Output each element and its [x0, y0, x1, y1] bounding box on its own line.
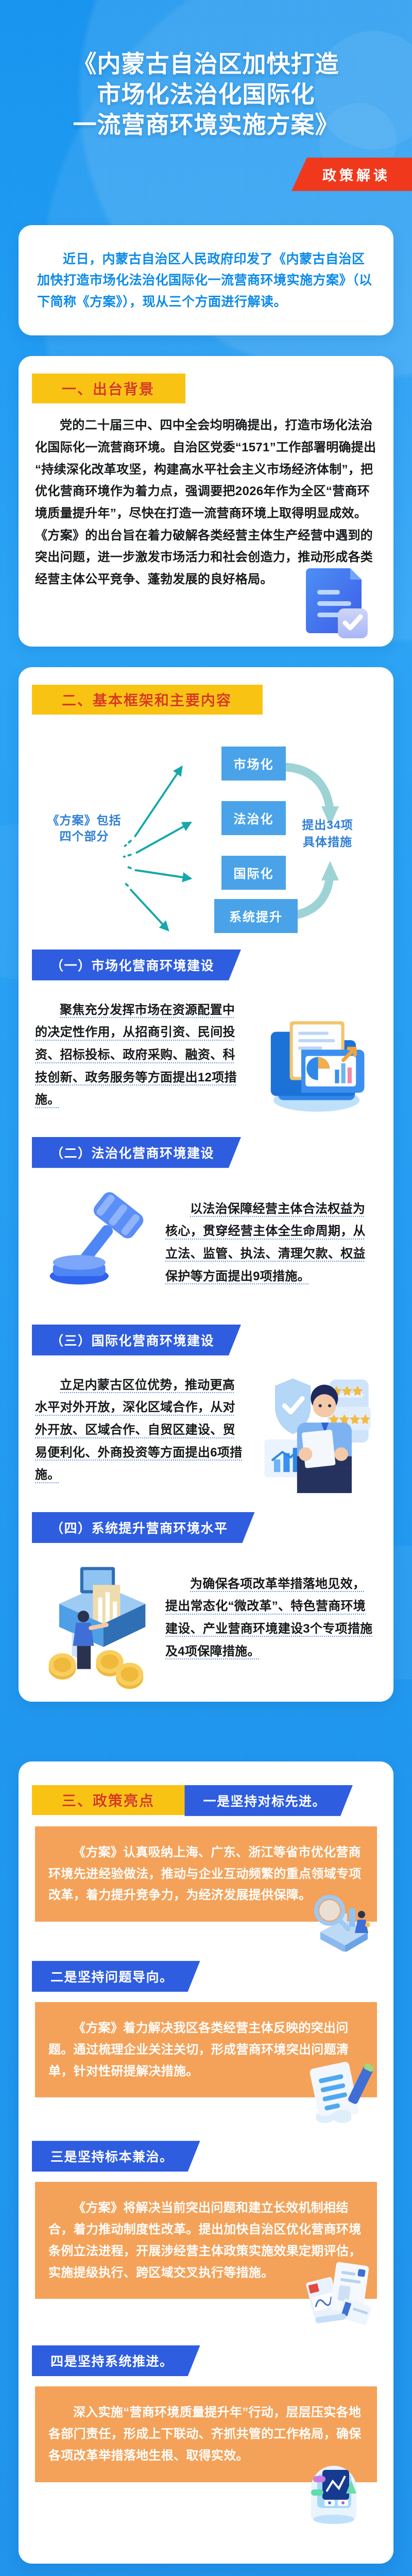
subsection-4-text-wrap: 为确保各项改革举措落地见效，提出常态化“微改革”、特色营商环境建设、产业营商环境… — [165, 1573, 377, 1663]
highlight-1-title: 一是坚持对标先进。 — [184, 1785, 353, 1816]
section-2-heading-label: 二、基本框架和主要内容 — [62, 692, 232, 708]
title-line-3: 一流营商环境实施方案》 — [14, 110, 398, 140]
highlight-3-body: 《方案》将解决当前突出问题和建立长效机制相结合，着力推动制度性改革。提出加快自治… — [35, 2182, 377, 2299]
subsection-2-body: 以法治保障经营主体合法权益为核心，贯穿经营主体全生命周期，从立法、监管、执法、清… — [165, 1198, 377, 1288]
highlight-3-title: 三是坚持标本兼治。 — [32, 2141, 200, 2172]
title-line-2: 市场化法治化国际化 — [14, 79, 398, 110]
highlight-4-title: 四是坚持系统推进。 — [32, 2345, 200, 2376]
subsection-3-text-wrap: 立足内蒙古区位优势，推动更高水平对外开放，深化区域合作，从对外开放、区域合作、自… — [35, 1374, 247, 1486]
subsection-3-body: 立足内蒙古区位优势，推动更高水平对外开放，深化区域合作，从对外开放、区域合作、自… — [35, 1374, 247, 1486]
intro-text: 近日，内蒙古自治区人民政府印发了《内蒙古自治区加快打造市场化法治化国际化一流营商… — [37, 249, 375, 313]
section-3-card: 三、政策亮点 一是坚持对标先进。 《方案》认真吸纳上海、广东、浙江等省市优化营商… — [19, 1761, 393, 2564]
highlight-3-wrap: 《方案》将解决当前突出问题和建立长效机制相结合，着力推动制度性改革。提出加快自治… — [35, 2182, 377, 2299]
highlight-1-wrap: 《方案》认真吸纳上海、广东、浙江等省市优化营商环境先进经验做法，推动与企业互动频… — [35, 1826, 377, 1922]
framework-diagram: 《方案》包括 四个部分 市场化 法治化 国际化 系统提升 提出34项 具体措施 — [35, 735, 377, 936]
gavel-icon — [35, 1178, 161, 1304]
diagram-source-line-1: 《方案》包括 — [39, 812, 129, 828]
subsection-1-row: 聚焦充分发挥市场在资源配置中的决定性作用，从招商引资、民间投资、招标投标、政府采… — [35, 991, 377, 1120]
subsection-2-title: （二）法治化营商环境建设 — [32, 1137, 241, 1168]
section-3-heading-label: 三、政策亮点 — [62, 1793, 154, 1809]
diagram-source-label: 《方案》包括 四个部分 — [39, 812, 129, 845]
section-1-body-wrap: 党的二十届三中、四中全会均明确提出，打造市场化法治化国际化一流营商环境。自治区党… — [35, 415, 377, 627]
policy-interpretation-badge: 政策解读 — [291, 158, 412, 191]
title-line-1: 《内蒙古自治区加快打造 — [14, 49, 398, 79]
subsection-4-title: （四）系统提升营商环境水平 — [32, 1512, 255, 1543]
intro-card: 近日，内蒙古自治区人民政府印发了《内蒙古自治区加快打造市场化法治化国际化一流营商… — [19, 225, 393, 336]
header: 《内蒙古自治区加快打造 市场化法治化国际化 一流营商环境实施方案》 政策解读 — [0, 0, 412, 191]
section-2-heading: 二、基本框架和主要内容 — [32, 685, 263, 715]
page-title: 《内蒙古自治区加快打造 市场化法治化国际化 一流营商环境实施方案》 — [0, 49, 412, 140]
subsection-1-title: （一）市场化营商环境建设 — [32, 950, 241, 980]
highlight-1-body: 《方案》认真吸纳上海、广东、浙江等省市优化营商环境先进经验做法，推动与企业互动频… — [35, 1826, 377, 1922]
diagram-result-line-2: 具体措施 — [286, 834, 369, 851]
diagram-source-line-2: 四个部分 — [39, 828, 129, 844]
highlight-4-wrap: 深入实施“营商环境质量提升年”行动，层层压实各地各部门责任，形成上下联动、齐抓共… — [35, 2386, 377, 2482]
subsection-3-title: （三）国际化营商环境建设 — [32, 1325, 241, 1355]
section-1-heading: 一、出台背景 — [32, 374, 185, 403]
highlight-4-body: 深入实施“营商环境质量提升年”行动，层层压实各地各部门责任，形成上下联动、齐抓共… — [35, 2386, 377, 2482]
subsection-2-text-wrap: 以法治保障经营主体合法权益为核心，贯穿经营主体全生命周期，从立法、监管、执法、清… — [165, 1198, 377, 1288]
diagram-result-label: 提出34项 具体措施 — [286, 817, 369, 850]
folder-chart-icon — [251, 991, 377, 1117]
diagram-node-rule-of-law: 法治化 — [221, 801, 286, 835]
infographic-page: 《内蒙古自治区加快打造 市场化法治化国际化 一流营商环境实施方案》 政策解读 近… — [0, 0, 412, 2576]
section-2-card: 二、基本框架和主要内容 — [19, 667, 393, 1702]
subsection-1-body: 聚焦充分发挥市场在资源配置中的决定性作用，从招商引资、民间投资、招标投标、政府采… — [35, 999, 247, 1111]
subsection-3-illustration — [251, 1366, 377, 1495]
person-coins-icon — [35, 1553, 161, 1690]
subsection-4-illustration — [35, 1553, 161, 1682]
diagram-node-system-upgrade: 系统提升 — [214, 899, 298, 933]
businessman-shield-icon — [251, 1366, 377, 1502]
diagram-result-line-1: 提出34项 — [286, 817, 369, 834]
ribbon-container: 政策解读 — [0, 158, 412, 191]
section-3-heading: 三、政策亮点 — [32, 1785, 185, 1815]
highlight-2-body: 《方案》着力解决我区各类经营主体反映的突出问题。通过梳理企业关注关切，形成营商环… — [35, 2002, 377, 2097]
subsection-3-row: 立足内蒙古区位优势，推动更高水平对外开放，深化区域合作，从对外开放、区域合作、自… — [35, 1366, 377, 1495]
section-background-card: 一、出台背景 党的二十届三中、四中全会均明确提出，打造市场化法治化国际化一流营商… — [19, 356, 393, 647]
subsection-2-row: 以法治保障经营主体合法权益为核心，贯穿经营主体全生命周期，从立法、监管、执法、清… — [35, 1178, 377, 1307]
section-1-heading-label: 一、出台背景 — [62, 381, 154, 397]
highlight-2-title: 二是坚持问题导向。 — [32, 1961, 200, 1992]
subsection-4-body: 为确保各项改革举措落地见效，提出常态化“微改革”、特色营商环境建设、产业营商环境… — [165, 1573, 377, 1663]
subsection-4-row: 为确保各项改革举措落地见效，提出常态化“微改革”、特色营商环境建设、产业营商环境… — [35, 1553, 377, 1682]
diagram-node-internationalization: 国际化 — [221, 856, 286, 890]
document-check-icon — [306, 563, 373, 640]
subsection-2-illustration — [35, 1178, 161, 1307]
highlight-2-wrap: 《方案》着力解决我区各类经营主体反映的突出问题。通过梳理企业关注关切，形成营商环… — [35, 2002, 377, 2097]
subsection-1-text-wrap: 聚焦充分发挥市场在资源配置中的决定性作用，从招商引资、民间投资、招标投标、政府采… — [35, 999, 247, 1111]
subsection-1-illustration — [251, 991, 377, 1120]
diagram-node-marketization: 市场化 — [221, 747, 286, 781]
